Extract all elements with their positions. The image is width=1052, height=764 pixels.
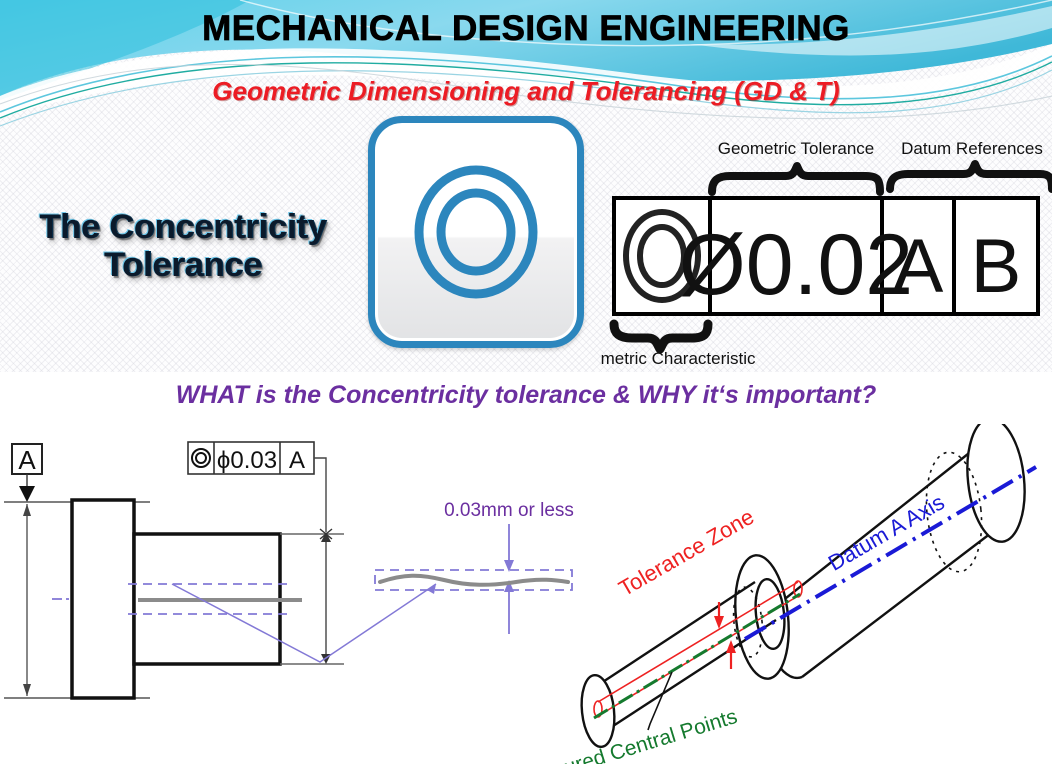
wordart-line-1: The Concentricity	[8, 208, 358, 246]
concentricity-icon-tile	[368, 116, 584, 348]
feature-control-frame-diagram: Geometric Tolerance Datum References Ø0.…	[600, 134, 1052, 368]
page-title: MECHANICAL DESIGN ENGINEERING	[0, 9, 1052, 49]
shaft-orthographic-view: A	[4, 442, 436, 698]
measured-points-label: Measured Central Points	[512, 705, 740, 764]
inline-fcf-datum: A	[289, 447, 305, 474]
label-datum-references: Datum References	[901, 139, 1043, 158]
fcf-cell-secondary-datum: B	[971, 224, 1022, 309]
inline-fcf-tolerance: ϕ0.03	[217, 447, 277, 474]
datum-axis-label: Datum A Axis	[824, 489, 949, 575]
concentricity-symbol-icon	[401, 157, 551, 307]
tolerance-note-label: 0.03mm or less	[444, 500, 574, 521]
page-subtitle: Geometric Dimensioning and Tolerancing (…	[0, 76, 1052, 107]
label-geometric-tolerance: Geometric Tolerance	[718, 139, 875, 158]
slide-canvas: MECHANICAL DESIGN ENGINEERING Geometric …	[0, 0, 1052, 764]
bottom-illustration: A	[0, 424, 1052, 764]
tolerance-band-detail: 0.03mm or less	[375, 500, 574, 634]
wordart-line-2: Tolerance	[8, 246, 358, 284]
question-line: WHAT is the Concentricity tolerance & WH…	[0, 381, 1052, 410]
wordart-heading: The Concentricity Tolerance	[8, 208, 358, 284]
inline-feature-control-frame: ϕ0.03 A	[188, 442, 314, 474]
datum-a-label: A	[18, 445, 36, 475]
cylinder-isometric-view: Datum A Axis Tolerance Zone Measured Cen…	[512, 424, 1036, 764]
fcf-cell-primary-datum: A	[893, 224, 944, 309]
label-geometric-characteristic: Geometric Characteristic	[600, 349, 756, 368]
fcf-cell-tolerance-value: Ø0.02	[679, 217, 913, 313]
